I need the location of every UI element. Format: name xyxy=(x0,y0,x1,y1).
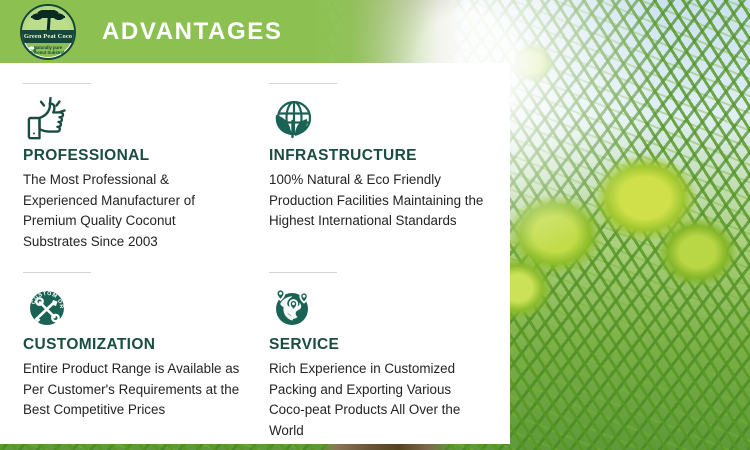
feature-customization: CUSTOM ORDER CUSTOMIZATION Entire Produc… xyxy=(23,272,242,441)
feature-professional: PROFESSIONAL The Most Professional & Exp… xyxy=(23,83,242,252)
page-title: ADVANTAGES xyxy=(102,18,282,46)
feature-service: SERVICE Rich Experience in Customized Pa… xyxy=(269,272,488,441)
logo-brand-band: Green Peat Coco xyxy=(22,30,74,43)
header-bar: Green Peat Coco Naturally pure Coconut S… xyxy=(0,0,460,63)
features-grid: PROFESSIONAL The Most Professional & Exp… xyxy=(23,83,488,441)
custom-order-badge-icon: CUSTOM ORDER xyxy=(23,284,242,330)
feature-description: Rich Experience in Customized Packing an… xyxy=(269,359,488,441)
feature-divider xyxy=(269,272,337,273)
logo-brand-text: Green Peat Coco xyxy=(24,33,72,40)
advantages-banner: Green Peat Coco Naturally pure Coconut S… xyxy=(0,0,750,450)
thumbs-up-icon xyxy=(23,95,242,141)
feature-title: CUSTOMIZATION xyxy=(23,336,242,354)
feature-divider xyxy=(269,83,337,84)
feature-title: PROFESSIONAL xyxy=(23,147,242,165)
feature-divider xyxy=(23,272,91,273)
logo-tagline: Naturally pure Coconut Substrate xyxy=(22,45,74,55)
features-card: PROFESSIONAL The Most Professional & Exp… xyxy=(0,63,510,444)
brand-logo[interactable]: Green Peat Coco Naturally pure Coconut S… xyxy=(20,4,76,60)
feature-infrastructure: INFRASTRUCTURE 100% Natural & Eco Friend… xyxy=(269,83,488,252)
feature-title: SERVICE xyxy=(269,336,488,354)
feature-title: INFRASTRUCTURE xyxy=(269,147,488,165)
feature-divider xyxy=(23,83,91,84)
feature-description: The Most Professional & Experienced Manu… xyxy=(23,170,242,252)
globe-pins-icon xyxy=(269,284,488,330)
logo-tagline-line2: Coconut Substrate xyxy=(22,50,74,55)
feature-description: Entire Product Range is Available as Per… xyxy=(23,359,242,421)
globe-leaf-icon xyxy=(269,95,488,141)
feature-description: 100% Natural & Eco Friendly Production F… xyxy=(269,170,488,232)
